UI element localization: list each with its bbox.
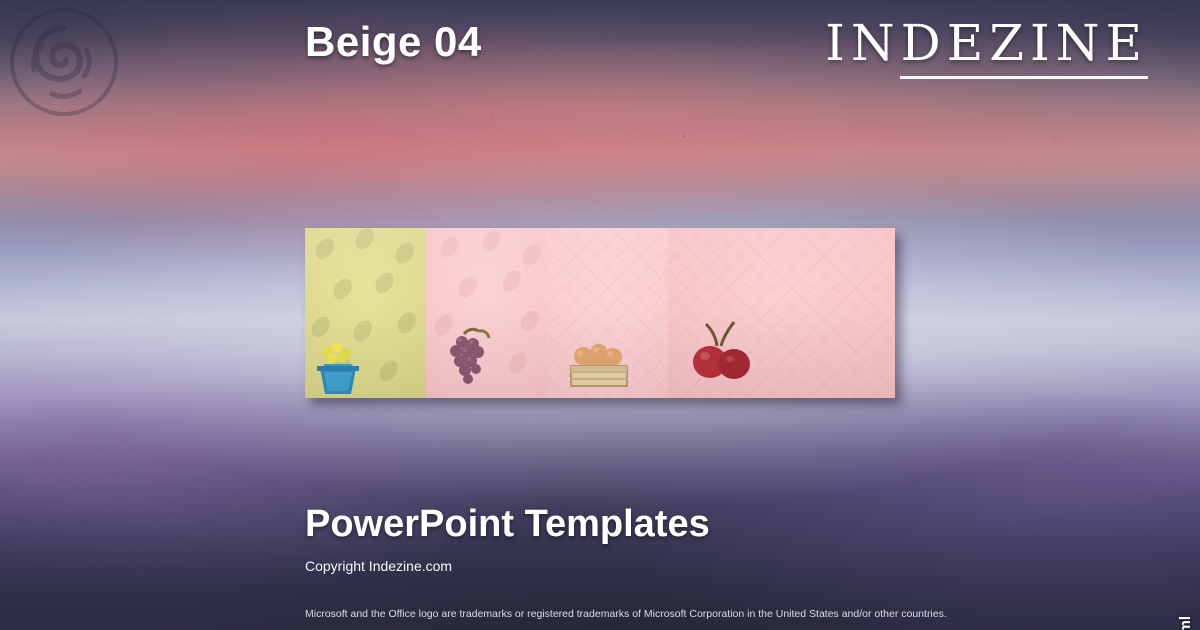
two-red-apples-icon bbox=[682, 314, 762, 394]
poster-canvas: Beige 04 INDEZINE bbox=[0, 0, 1200, 630]
page-title: Beige 04 bbox=[305, 18, 482, 66]
celtic-spiral-ornament bbox=[8, 6, 120, 118]
blue-pot-with-yellow-flowers-icon bbox=[311, 338, 367, 396]
slide-thumbnail-3[interactable] bbox=[547, 228, 668, 398]
legal-disclaimer: Microsoft and the Office logo are tradem… bbox=[305, 608, 947, 620]
vertical-url[interactable]: indezine.com/powerpoint/templates/color/… bbox=[1177, 616, 1194, 630]
brand-underline bbox=[900, 76, 1148, 79]
slide-thumbnail-4[interactable] bbox=[668, 228, 895, 398]
slide-thumbnail-2[interactable] bbox=[426, 228, 547, 398]
slide-thumbnail-1[interactable] bbox=[305, 228, 426, 398]
brand-logo: INDEZINE bbox=[825, 14, 1148, 72]
footer-title: PowerPoint Templates bbox=[305, 503, 710, 546]
template-preview-strip[interactable] bbox=[305, 228, 895, 398]
bunch-of-grapes-icon bbox=[434, 326, 496, 392]
crate-of-peaches-icon bbox=[561, 336, 635, 392]
copyright-text: Copyright Indezine.com bbox=[305, 558, 452, 574]
